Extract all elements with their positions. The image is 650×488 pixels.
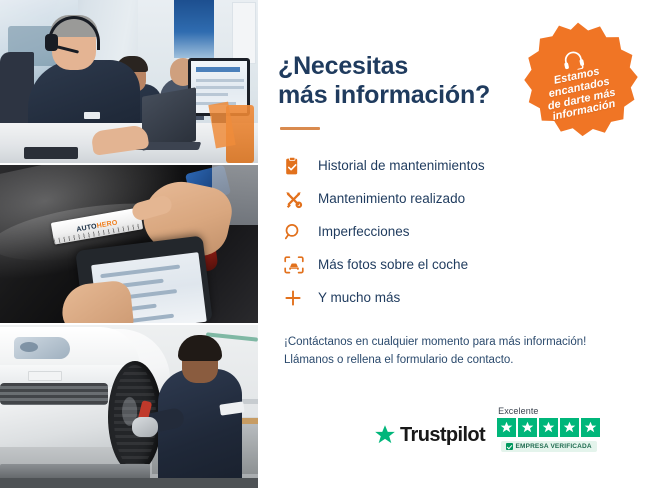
star-filled (497, 418, 516, 437)
feature-item-historial[interactable]: Historial de mantenimientos (284, 150, 628, 183)
monitor-row (196, 86, 244, 89)
trustpilot-logo[interactable]: Trustpilot (374, 424, 485, 452)
car-plate-area (28, 371, 62, 381)
trustpilot-star-icon (374, 424, 396, 446)
contact-line-2: Llámanos o rellena el formulario de cont… (284, 351, 628, 370)
wall-poster-blue (174, 0, 214, 58)
star-filled (518, 418, 537, 437)
verified-check-icon (506, 443, 513, 450)
desk-tablet (24, 147, 78, 159)
feature-label: Mantenimiento realizado (310, 192, 465, 206)
plus-icon (284, 289, 310, 307)
tablet-row (100, 264, 180, 278)
photo-autohero-ruler-inspection: AUTOHERO (0, 163, 258, 325)
document-check-icon (284, 157, 310, 176)
verified-company-badge: EMPRESA VERIFICADA (501, 441, 597, 452)
workshop-floor (0, 478, 258, 488)
star-filled (560, 418, 579, 437)
car-scan-icon (284, 256, 310, 274)
star-filled (581, 418, 600, 437)
badge-content: Estamos encantados de darte más informac… (504, 8, 650, 155)
magnifier-icon (284, 223, 310, 241)
car-headlight (14, 337, 70, 359)
trustpilot-rating[interactable]: Trustpilot Excelente (374, 406, 600, 452)
wall-poster-white (232, 2, 256, 64)
trustpilot-score-block: Excelente (497, 406, 600, 452)
monitor-header-bar (196, 67, 240, 72)
content-panel: ¿Necesitas más información? Estamos enca… (258, 0, 650, 488)
car-grille (0, 383, 108, 405)
feature-item-fotos[interactable]: Más fotos sobre el coche (284, 249, 628, 282)
feature-item-mucho-mas[interactable]: Y mucho más (284, 282, 628, 315)
promo-badge: Estamos encantados de darte más informac… (516, 20, 640, 144)
contact-paragraph: ¡Contáctanos en cualquier momento para m… (284, 333, 628, 371)
contact-line-1: ¡Contáctanos en cualquier momento para m… (284, 333, 628, 352)
headline-line-1: ¿Necesitas (278, 52, 408, 80)
title-divider (280, 127, 320, 130)
photo-mechanic-wheel-inspection (0, 325, 258, 488)
feature-label: Más fotos sobre el coche (310, 258, 468, 272)
photo-1-scene (0, 0, 258, 163)
feature-label: Y mucho más (310, 291, 400, 305)
trustpilot-wordmark: Trustpilot (400, 425, 485, 445)
feature-list: Historial de mantenimientos M (284, 150, 628, 315)
badge-text: Estamos encantados de darte más informac… (531, 62, 631, 127)
star-rating (497, 418, 600, 437)
mechanic-glove (132, 417, 158, 437)
photo-column: AUTOHERO (0, 0, 258, 488)
feature-label: Imperfecciones (310, 225, 410, 239)
tools-cross-icon (284, 190, 310, 209)
agent-name-badge (84, 112, 100, 119)
info-poster: AUTOHERO (0, 0, 650, 488)
headline-line-2: más información? (278, 81, 508, 110)
photo-2-scene: AUTOHERO (0, 165, 258, 323)
feature-item-mantenimiento[interactable]: Mantenimiento realizado (284, 183, 628, 216)
agent-headset-earcup (45, 34, 58, 51)
rating-label: Excelente (498, 406, 538, 416)
verified-company-label: EMPRESA VERIFICADA (516, 443, 592, 450)
photo-call-center-agent-headset (0, 0, 258, 163)
monitor-row (196, 93, 228, 96)
page-title: ¿Necesitas más información? (278, 52, 508, 111)
monitor-row (196, 79, 244, 82)
feature-label: Historial de mantenimientos (310, 159, 485, 173)
feature-item-imperfecciones[interactable]: Imperfecciones (284, 216, 628, 249)
photo-3-scene (0, 325, 258, 488)
star-filled (539, 418, 558, 437)
